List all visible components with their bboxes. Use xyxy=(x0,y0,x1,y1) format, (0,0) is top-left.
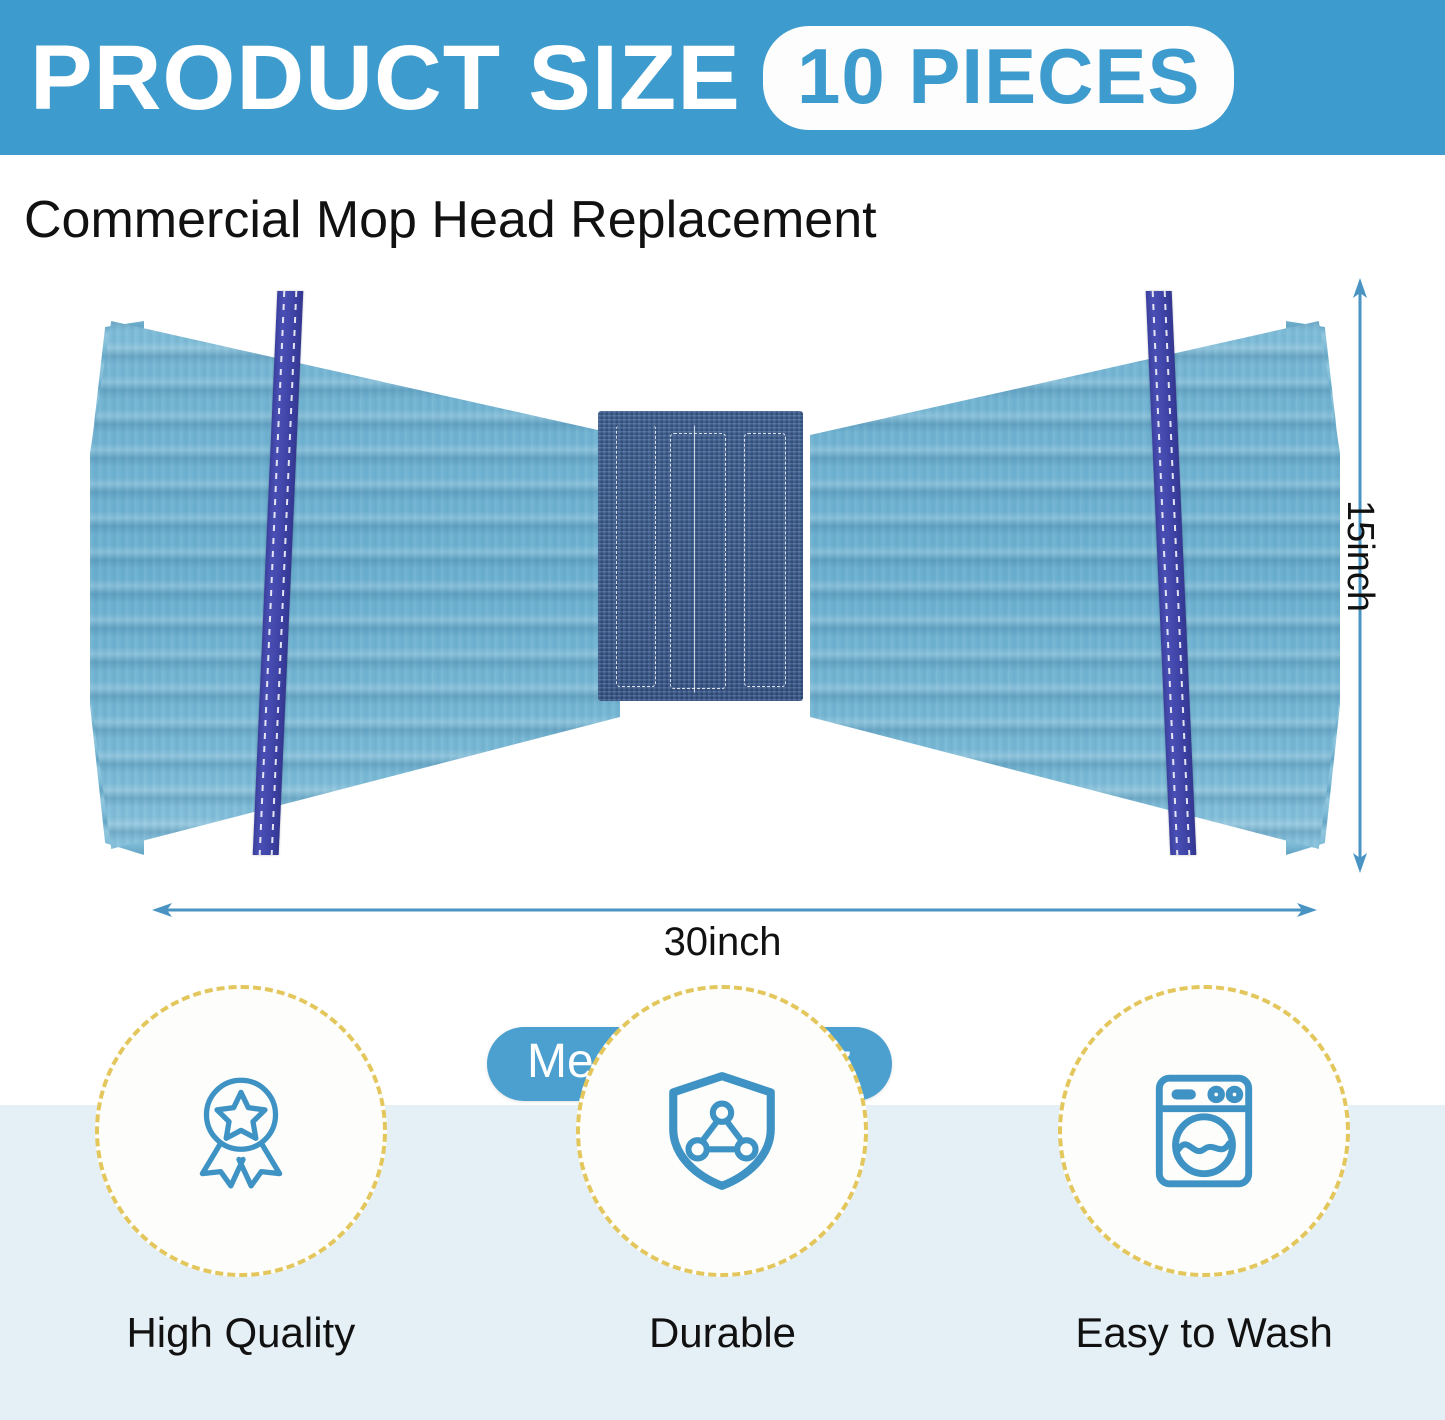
page-title: PRODUCT SIZE xyxy=(30,32,741,124)
mop-left-fabric xyxy=(90,273,620,873)
pieces-badge: 10 PIECES xyxy=(763,26,1235,130)
band-stitch-1 xyxy=(616,425,656,687)
feature-icon-circle xyxy=(95,985,387,1277)
product-size-infographic: PRODUCT SIZE 10 PIECES Commercial Mop He… xyxy=(0,0,1445,1420)
award-ribbon-icon xyxy=(176,1066,306,1196)
width-dimension-arrow xyxy=(152,902,1317,918)
product-subtitle: Commercial Mop Head Replacement xyxy=(24,190,877,250)
feature-high-quality: High Quality xyxy=(31,985,451,1357)
feature-easy-to-wash: Easy to Wash xyxy=(994,985,1414,1357)
feature-durable: Durable xyxy=(512,985,932,1357)
feature-label: Easy to Wash xyxy=(1075,1309,1333,1357)
feature-label: High Quality xyxy=(126,1309,355,1357)
features-row: High Quality Durable xyxy=(0,985,1445,1420)
feature-label: Durable xyxy=(649,1309,796,1357)
mop-right-fabric xyxy=(810,273,1340,873)
mop-center-band xyxy=(598,411,803,701)
mop-head-product-image xyxy=(90,273,1340,873)
height-dimension-label: 15inch xyxy=(1338,500,1381,612)
feature-icon-circle xyxy=(576,985,868,1277)
pieces-badge-label: 10 PIECES xyxy=(797,37,1201,115)
width-dimension-label: 30inch xyxy=(0,920,1445,965)
header-band: PRODUCT SIZE 10 PIECES xyxy=(0,0,1445,155)
washing-machine-icon xyxy=(1139,1066,1269,1196)
mop-right-fan xyxy=(810,273,1340,873)
shield-icon xyxy=(657,1066,787,1196)
band-stitch-2 xyxy=(670,433,726,689)
mop-left-fan xyxy=(90,273,620,873)
band-stitch-3 xyxy=(744,433,786,687)
product-image-area: Medium :14 Oz xyxy=(0,255,1445,895)
feature-icon-circle xyxy=(1058,985,1350,1277)
